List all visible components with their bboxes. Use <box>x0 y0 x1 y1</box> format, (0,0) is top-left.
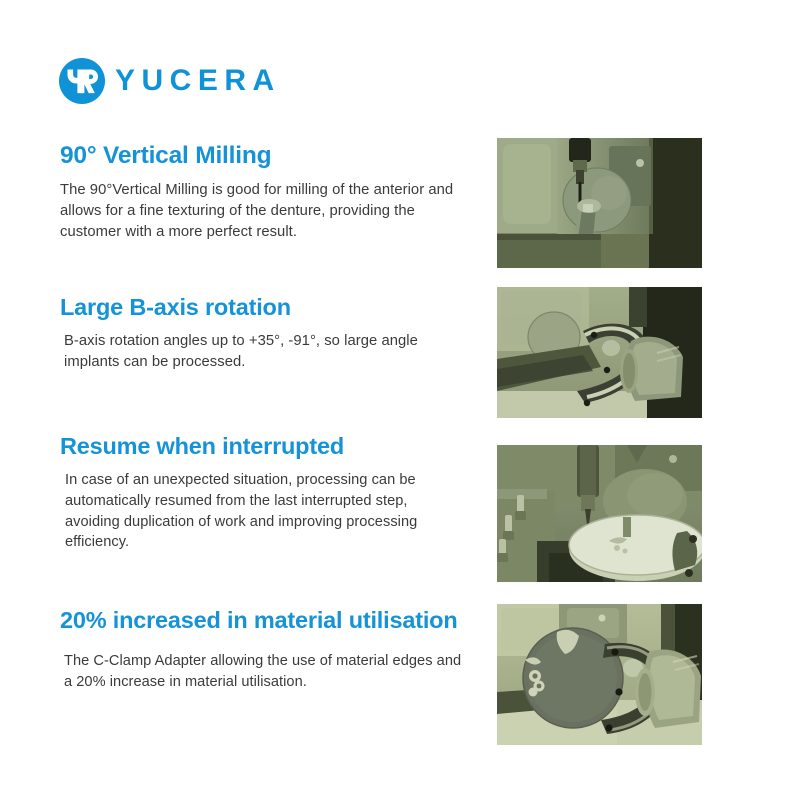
brand-wordmark: YUCERA <box>115 66 281 96</box>
feature-block-resume-when-interrupted: Resume when interrupted In case of an un… <box>60 433 460 553</box>
feature-block-material-utilisation: 20% increased in material utilisation Th… <box>60 607 460 693</box>
feature-photo-b-axis-rotation <box>497 287 702 418</box>
feature-body: B-axis rotation angles up to +35°, -91°,… <box>64 331 464 373</box>
feature-title: 20% increased in material utilisation <box>60 607 460 633</box>
brand-logo: YUCERA <box>58 52 281 110</box>
feature-photo-vertical-milling <box>497 138 702 268</box>
feature-photo-c-clamp-adapter <box>497 604 702 745</box>
feature-body: In case of an unexpected situation, proc… <box>65 470 465 553</box>
feature-title: Resume when interrupted <box>60 433 460 459</box>
spec-sheet-page: YUCERA 90° Vertical Milling The 90°Verti… <box>0 0 800 800</box>
feature-title: 90° Vertical Milling <box>60 142 460 169</box>
yr-monogram-icon <box>58 57 106 105</box>
feature-photo-resume-when-interrupted <box>497 445 702 582</box>
feature-body: The 90°Vertical Milling is good for mill… <box>60 180 460 243</box>
feature-title: Large B-axis rotation <box>60 294 460 320</box>
feature-block-b-axis-rotation: Large B-axis rotation B-axis rotation an… <box>60 294 460 373</box>
feature-block-vertical-milling: 90° Vertical Milling The 90°Vertical Mil… <box>60 142 460 243</box>
feature-body: The C-Clamp Adapter allowing the use of … <box>64 651 464 692</box>
